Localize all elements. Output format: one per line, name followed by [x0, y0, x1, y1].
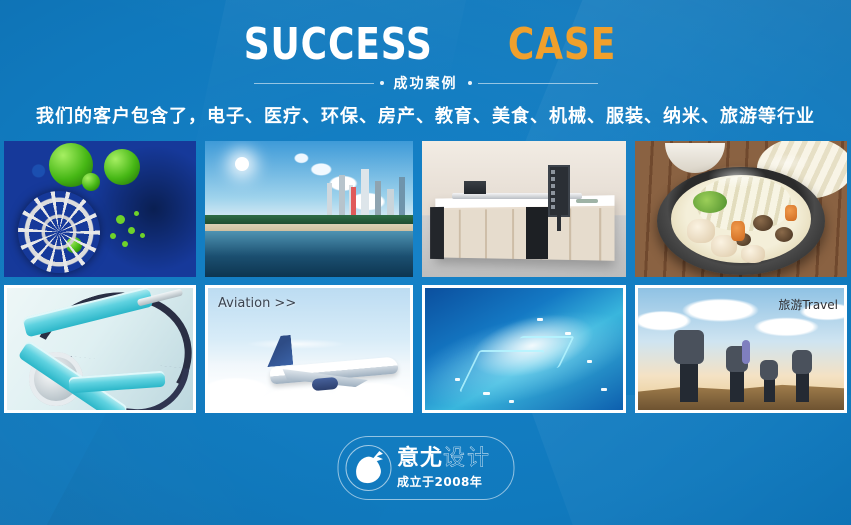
bird-logo-icon	[345, 445, 391, 491]
medical-image	[7, 288, 193, 410]
travel-caption: 旅游Travel	[778, 296, 838, 313]
gallery-tile-environment[interactable]	[205, 141, 413, 277]
gallery-tile-travel[interactable]: 旅游Travel	[635, 285, 847, 413]
hotpot-image	[635, 141, 847, 277]
electronics-image	[425, 288, 623, 410]
brand-name-thin: 设计	[443, 446, 491, 471]
tagline: 我们的客户包含了，电子、医疗、环保、房产、教育、美食、机械、服装、纳米、旅游等行…	[0, 102, 851, 128]
title-success: SUCCESS	[244, 22, 433, 68]
gallery-tile-aviation[interactable]: Aviation >>	[205, 285, 413, 413]
background-facet	[525, 395, 851, 525]
brand-logo[interactable]: 意尤设计 成立于2008年	[337, 436, 514, 500]
gallery-tile-lab[interactable]	[422, 141, 626, 277]
environment-image	[205, 141, 413, 277]
divider-left	[254, 81, 384, 85]
divider-right	[468, 81, 598, 85]
subtitle-row: 成功案例	[0, 73, 851, 93]
established-year: 成立于2008年	[397, 473, 491, 490]
nanotech-image	[4, 141, 196, 277]
lab-bench-image	[422, 141, 626, 277]
gallery-tile-electronics[interactable]	[422, 285, 626, 413]
aviation-caption: Aviation >>	[218, 296, 296, 311]
subtitle-cn: 成功案例	[394, 73, 458, 93]
brand-name: 意尤设计	[397, 447, 491, 471]
case-gallery: Aviation >>	[4, 141, 847, 413]
gallery-tile-medical[interactable]	[4, 285, 196, 413]
brand-name-bold: 意尤	[397, 446, 443, 471]
title-case: CASE	[507, 22, 615, 68]
gallery-tile-nanotech[interactable]	[4, 141, 196, 277]
page-title: SUCCESS CASE	[0, 22, 851, 68]
success-case-banner: SUCCESS CASE 成功案例 我们的客户包含了，电子、医疗、环保、房产、教…	[0, 0, 851, 525]
gallery-tile-food[interactable]	[635, 141, 847, 277]
